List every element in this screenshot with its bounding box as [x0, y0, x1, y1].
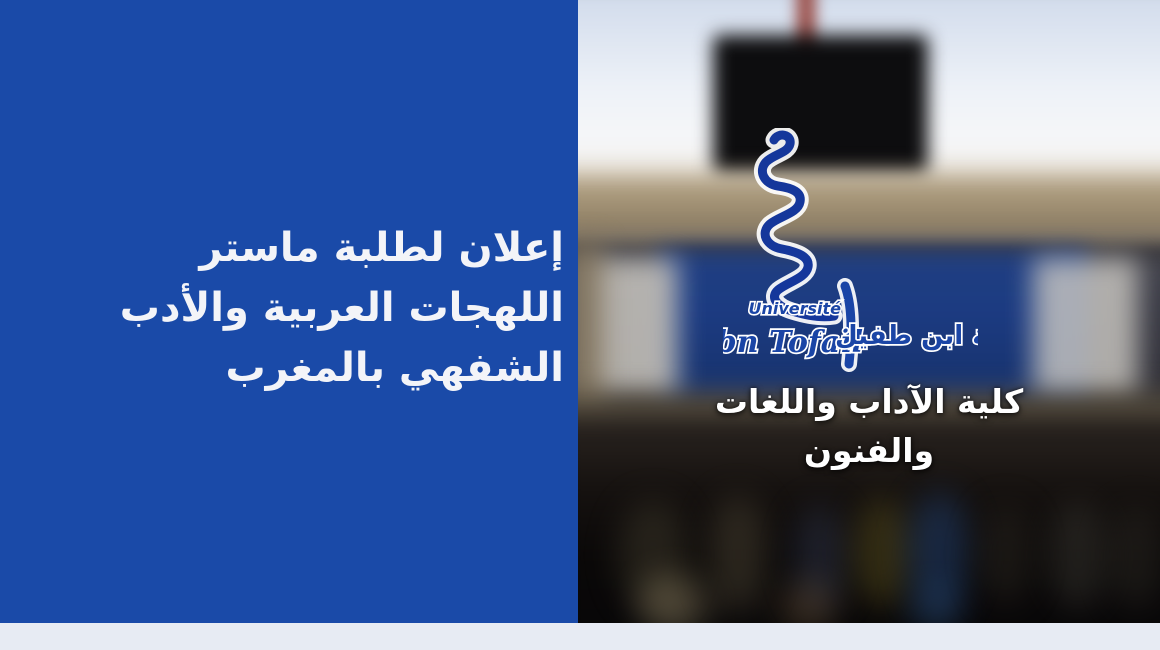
headline-line-2: اللهجات العربية والأدب [14, 278, 564, 338]
photo-crowd-blob [1108, 505, 1160, 610]
photo-crowd-blob [853, 498, 913, 608]
campus-photo-background: Université Ibn Tofaïl جامعة ابن طفيل [578, 0, 1160, 623]
announcement-banner: Université Ibn Tofaïl جامعة ابن طفيل كلي… [0, 0, 1160, 650]
headline-panel: إعلان لطلبة ماستر اللهجات العربية والأدب… [0, 0, 578, 623]
faculty-line-2: والفنون [578, 427, 1160, 476]
photo-crowd-blob [978, 505, 1033, 605]
banner-content-band: Université Ibn Tofaïl جامعة ابن طفيل كلي… [0, 0, 1160, 623]
logo-wordmark: Université Ibn Tofaïl جامعة ابن طفيل [723, 278, 978, 373]
photo-crowd-blob [1048, 500, 1108, 610]
photo-crowd-blob [708, 495, 768, 615]
faculty-line-1: كلية الآداب واللغات [578, 378, 1160, 427]
announcement-headline: إعلان لطلبة ماستر اللهجات العربية والأدب… [14, 218, 564, 398]
logo-french-label: Université [748, 299, 841, 318]
headline-line-1: إعلان لطلبة ماستر [14, 218, 564, 278]
faculty-caption: كلية الآداب واللغات والفنون [578, 378, 1160, 476]
university-logo: Université Ibn Tofaïl جامعة ابن طفيل [718, 128, 978, 378]
photo-right-panel-blur [1033, 258, 1138, 398]
logo-arabic-name: جامعة ابن طفيل [835, 321, 978, 351]
headline-line-3: الشفهي بالمغرب [14, 338, 564, 398]
page-footer-strip [0, 623, 1160, 650]
